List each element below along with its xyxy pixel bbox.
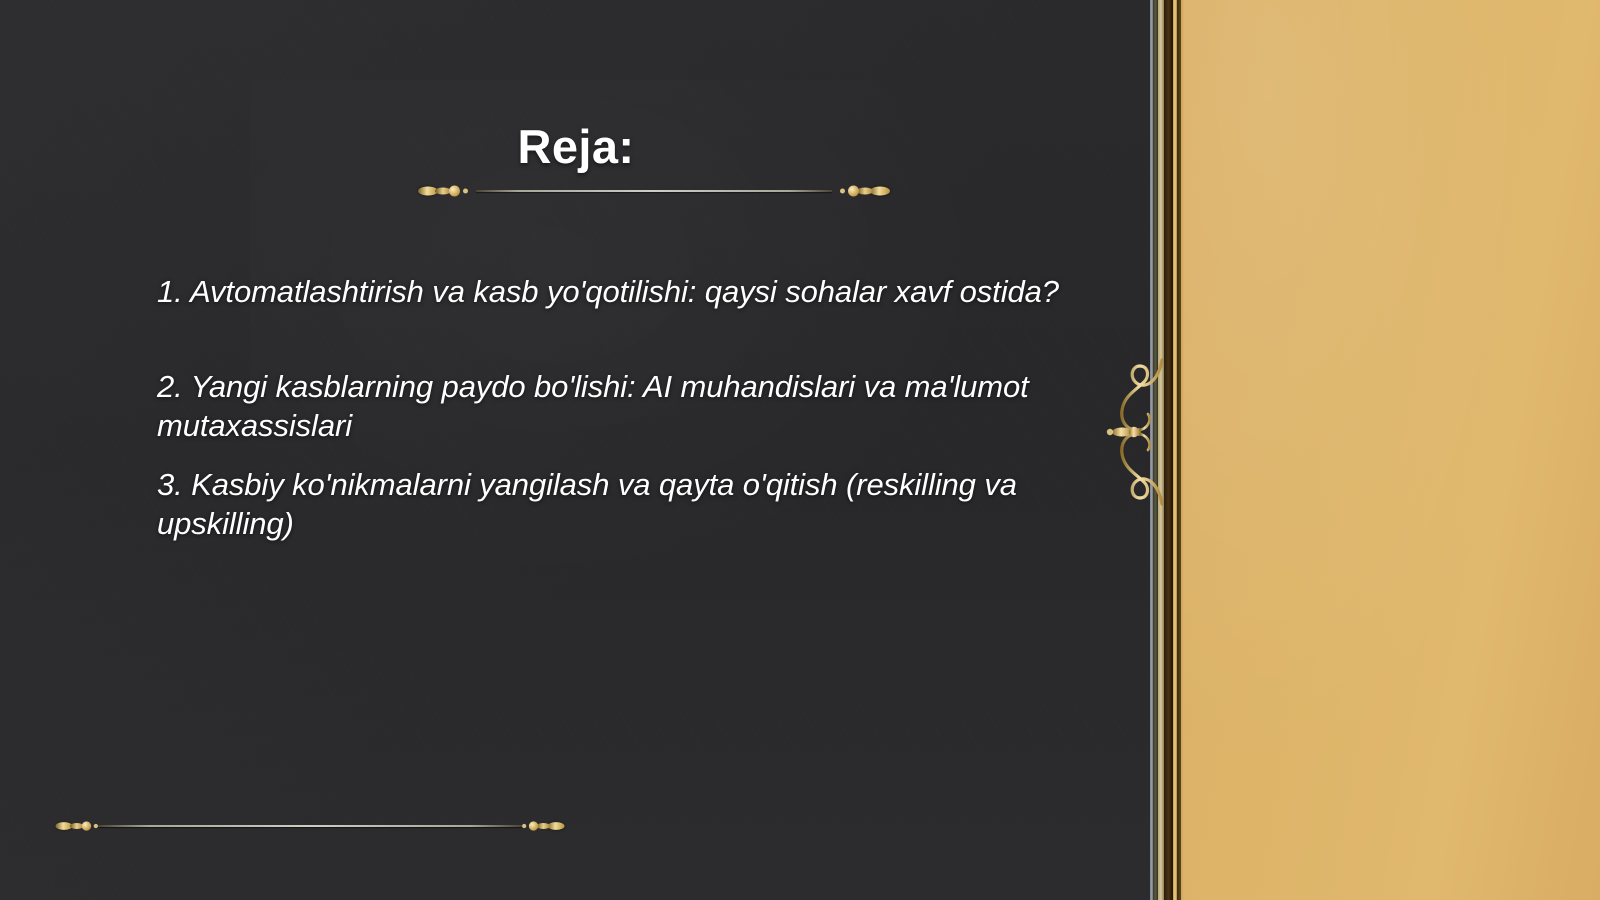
- list-item: 2. Yangi kasblarning paydo bo'lishi: AI …: [157, 367, 1132, 445]
- gold-panel-shading: [1184, 0, 1600, 900]
- list-item: 1. Avtomatlashtirish va kasb yo'qotilish…: [157, 272, 1132, 311]
- bottom-divider-line: [98, 825, 522, 827]
- bottom-divider-left-ornament-icon: [55, 819, 94, 833]
- page-title: Reja:: [0, 122, 1152, 171]
- divider-line: [476, 190, 832, 192]
- agenda-list: 1. Avtomatlashtirish va kasb yo'qotilish…: [157, 272, 1132, 543]
- list-item: 3. Kasbiy ko'nikmalarni yangilash va qay…: [157, 465, 1132, 543]
- bottom-divider: [52, 817, 568, 835]
- title-divider: [418, 182, 890, 200]
- presentation-slide: Reja: 1. Avtomatlashtirish va kasb yo'qo…: [0, 0, 1600, 900]
- divider-right-ornament-icon: [832, 183, 890, 199]
- divider-left-ornament-icon: [418, 183, 476, 199]
- title-block: Reja:: [0, 122, 1152, 171]
- filigree-diamond-accent: [1107, 427, 1139, 437]
- bottom-divider-right-ornament-icon: [525, 819, 564, 833]
- slide-gold-panel: [1184, 0, 1600, 900]
- filigree-scroll-ornament-icon: [1096, 352, 1172, 512]
